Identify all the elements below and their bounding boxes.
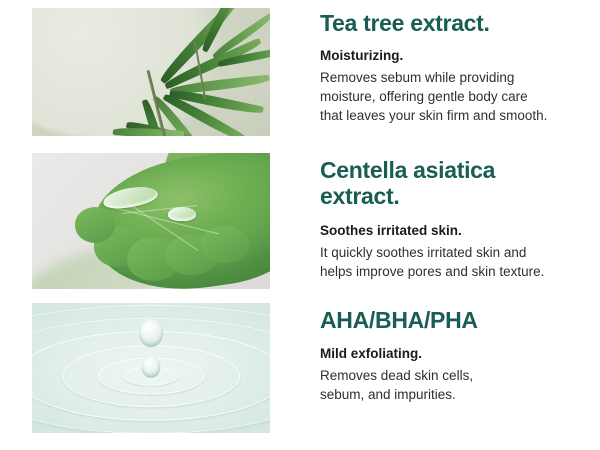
aha-bha-pha-body-line: Removes dead skin cells, (320, 366, 584, 385)
centella-heading-line: extract. (320, 183, 399, 209)
tea-tree-subheading: Moisturizing. (320, 46, 584, 66)
aha-bha-pha-text-block: AHA/BHA/PHA Mild exfoliating. Removes de… (320, 307, 584, 404)
centella-leaf-photo (32, 153, 270, 289)
centella-leaf-lobe (75, 207, 115, 242)
water-ripple-photo (32, 303, 270, 433)
tea-tree-body-line: moisture, offering gentle body care (320, 87, 584, 106)
tea-tree-leaves-photo (32, 8, 270, 136)
centella-text-block: Centella asiatica extract. Soothes irrit… (320, 157, 584, 281)
tea-tree-body-line: that leaves your skin firm and smooth. (320, 106, 584, 125)
tea-tree-body-line: Removes sebum while providing (320, 68, 584, 87)
centella-heading: Centella asiatica extract. (320, 157, 584, 209)
centella-body: It quickly soothes irritated skin and he… (320, 243, 584, 281)
ingredient-benefits-panel: Tea tree extract. Moisturizing. Removes … (0, 0, 600, 450)
centella-heading-line: Centella asiatica (320, 157, 495, 183)
centella-subheading: Soothes irritated skin. (320, 221, 584, 241)
aha-bha-pha-body: Removes dead skin cells, sebum, and impu… (320, 366, 584, 404)
centella-body-line: It quickly soothes irritated skin and (320, 243, 584, 262)
water-droplet-upper (139, 319, 163, 348)
centella-body-line: helps improve pores and skin texture. (320, 262, 584, 281)
tea-tree-text-block: Tea tree extract. Moisturizing. Removes … (320, 10, 584, 125)
centella-water-droplet (168, 207, 197, 221)
aha-bha-pha-body-line: sebum, and impurities. (320, 385, 584, 404)
water-droplet-lower (141, 356, 160, 378)
tea-tree-body: Removes sebum while providing moisture, … (320, 68, 584, 125)
aha-bha-pha-heading: AHA/BHA/PHA (320, 307, 584, 333)
aha-bha-pha-subheading: Mild exfoliating. (320, 344, 584, 364)
tea-tree-heading: Tea tree extract. (320, 10, 584, 36)
